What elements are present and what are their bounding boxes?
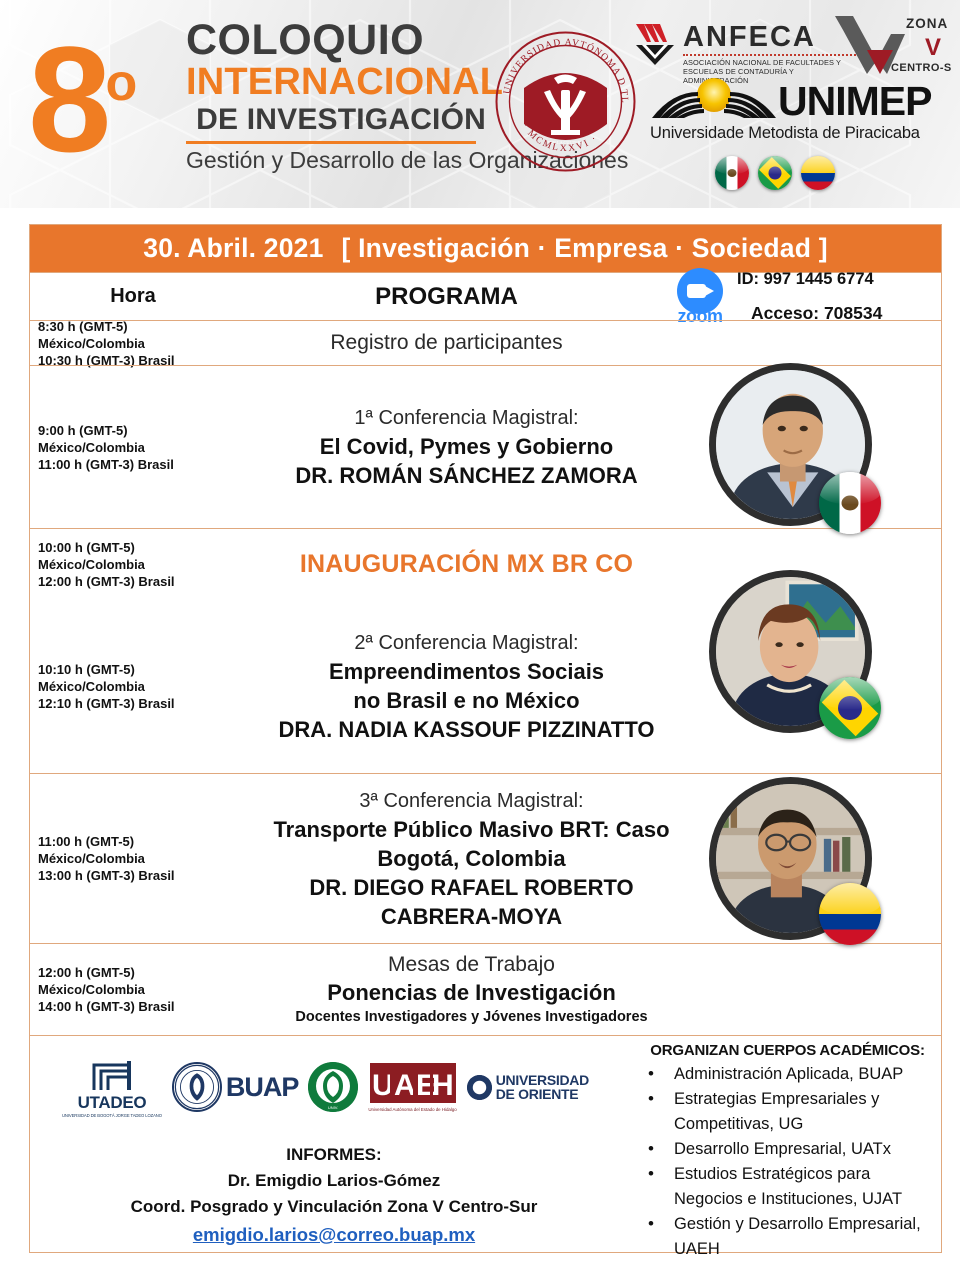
list-item: Administración Aplicada, BUAP	[640, 1062, 935, 1087]
banner-subtitle: Gestión y Desarrollo de las Organizacion…	[186, 147, 486, 173]
table-column-headers: Hora PROGRAMA zoom ID: 997 1445 6774 Acc…	[30, 272, 941, 320]
informes-block: INFORMES: Dr. Emigdio Larios-Gómez Coord…	[30, 1128, 638, 1249]
date-theme-bar: 30. Abril. 2021 [ Investigación · Empres…	[30, 225, 941, 272]
svg-text:H: H	[432, 1069, 454, 1102]
utadeo-subtext: UNIVERSIDAD DE BOGOTÁ JORGE TADEO LOZANO	[62, 1113, 162, 1118]
svg-text:UNIV.: UNIV.	[328, 1105, 338, 1110]
zoom-logo-icon: zoom	[669, 266, 731, 328]
brazil-flag-badge	[819, 677, 881, 739]
conferencia-2-speaker: DRA. NADIA KASSOUF PIZZINATTO	[278, 715, 654, 744]
footer-section: UTADEO UNIVERSIDAD DE BOGOTÁ JORGE TADEO…	[30, 1035, 941, 1267]
uo-line1: UNIVERSIDAD	[496, 1073, 589, 1087]
list-item: Estudios Estratégicos para Negocios e In…	[640, 1162, 935, 1212]
informes-email-link[interactable]: emigdio.larios@correo.buap.mx	[30, 1220, 638, 1249]
informes-contact-role: Coord. Posgrado y Vinculación Zona V Cen…	[30, 1194, 638, 1220]
edition-number: 8o	[28, 8, 137, 174]
mexico-flag-icon	[715, 156, 749, 190]
event-date: 30. Abril. 2021	[143, 233, 323, 264]
event-theme: [ Investigación · Empresa · Sociedad ]	[342, 233, 828, 264]
informes-contact-name: Dr. Emigdio Larios-Gómez	[30, 1168, 638, 1194]
unimep-mark-icon	[650, 78, 778, 124]
brazil-flag-icon	[758, 156, 792, 190]
banner-line-internacional: INTERNACIONAL	[186, 62, 486, 103]
conferencia-1-speaker: DR. ROMÁN SÁNCHEZ ZAMORA	[295, 461, 637, 490]
anfeca-logo: ANFECA ASOCIACIÓN NACIONAL DE FACULTADES…	[634, 22, 859, 85]
conferencia-3-title-line1: Transporte Público Masivo BRT: Caso	[273, 815, 669, 844]
row-time-conferencia-2: 10:10 h (GMT-5) México/Colombia 12:10 h …	[30, 600, 232, 773]
mesas-title: Ponencias de Investigación	[327, 978, 616, 1007]
zona-v-centro-sur-logo: ZONA V CENTRO-SUR	[833, 12, 951, 80]
row-time-mesas: 12:00 h (GMT-5) México/Colombia 14:00 h …	[30, 944, 232, 1035]
conferencia-3-speaker-line1: DR. DIEGO RAFAEL ROBERTO	[309, 873, 633, 902]
buap-wordmark: BUAP	[226, 1072, 299, 1103]
conferencia-1-title: El Covid, Pymes y Gobierno	[320, 432, 613, 461]
unimep-subtitle: Universidade Metodista de Piracicaba	[650, 124, 940, 143]
anfeca-mark-icon	[634, 22, 676, 66]
row-time-registro: 8:30 h (GMT-5) México/Colombia 10:30 h (…	[30, 321, 232, 365]
mesas-subtitle: Docentes Investigadores y Jóvenes Invest…	[295, 1007, 647, 1028]
colombia-flag-badge	[819, 883, 881, 945]
svg-text:ZONA: ZONA	[906, 16, 948, 31]
uo-line2: DE ORIENTE	[496, 1087, 589, 1101]
universidad-de-oriente-logo: UNIVERSIDAD DE ORIENTE	[467, 1073, 589, 1101]
header-banner: 8o COLOQUIO INTERNACIONAL DE INVESTIGACI…	[0, 0, 960, 208]
list-item: Desarrollo Empresarial, UATx	[640, 1137, 935, 1162]
conferencia-3-lead: 3ª Conferencia Magistral:	[359, 787, 583, 815]
mesas-label: Mesas de Trabajo	[388, 951, 555, 978]
country-flags-row	[715, 156, 835, 190]
conferencia-1-lead: 1ª Conferencia Magistral:	[354, 404, 578, 432]
uaeh-logo: UAEH Universidad Autónoma del Estado de …	[368, 1063, 456, 1112]
utadeo-wordmark: UTADEO	[78, 1093, 147, 1113]
col-header-programa: PROGRAMA	[375, 283, 518, 311]
zoom-access-cell: zoom ID: 997 1445 6774 Acceso: 708534	[661, 273, 941, 320]
organizan-title: ORGANIZAN CUERPOS ACADÉMICOS:	[640, 1042, 935, 1059]
uo-mark-icon	[467, 1075, 492, 1100]
utadeo-logo: UTADEO UNIVERSIDAD DE BOGOTÁ JORGE TADEO…	[62, 1057, 162, 1118]
banner-title-block: COLOQUIO INTERNACIONAL DE INVESTIGACIÓN …	[186, 18, 486, 173]
buap-seal-icon	[172, 1062, 222, 1112]
list-item: Estrategias Empresariales y Competitivas…	[640, 1087, 935, 1137]
row-time-inauguracion: 10:00 h (GMT-5) México/Colombia 12:00 h …	[30, 529, 232, 600]
unimep-wordmark: UNIMEP	[778, 80, 931, 122]
informes-title: INFORMES:	[30, 1142, 638, 1168]
banner-line-coloquio: COLOQUIO	[186, 18, 486, 62]
unimep-logo: UNIMEP Universidade Metodista de Piracic…	[650, 78, 940, 143]
uaeh-subtext: Universidad Autónoma del Estado de Hidal…	[368, 1107, 456, 1112]
conferencia-2-title-line2: no Brasil e no México	[353, 686, 579, 715]
svg-text:A: A	[394, 1069, 416, 1102]
conferencia-2-title-line1: Empreendimentos Sociais	[329, 657, 604, 686]
conferencia-3-title-line2: Bogotá, Colombia	[377, 844, 565, 873]
svg-text:CENTRO-SUR: CENTRO-SUR	[891, 62, 951, 74]
inauguracion-label: INAUGURACIÓN MX BR CO	[300, 550, 633, 579]
uag-logo: UNIV.	[308, 1062, 358, 1112]
list-item: Gestión y Desarrollo Empresarial, UAEH	[640, 1212, 935, 1262]
conferencia-3-speaker-line2: CABRERA-MOYA	[381, 902, 562, 931]
banner-line-investigacion: DE INVESTIGACIÓN	[186, 103, 486, 136]
partner-logos-strip: UTADEO UNIVERSIDAD DE BOGOTÁ JORGE TADEO…	[30, 1042, 638, 1128]
row-time-conferencia-3: 11:00 h (GMT-5) México/Colombia 13:00 h …	[30, 774, 232, 943]
uatx-seal-icon: POR LA CULTURA UNIVERSIDAD AVTÓNOMA D TL…	[494, 30, 637, 173]
conferencia-2-lead: 2ª Conferencia Magistral:	[354, 629, 578, 657]
mexico-flag-badge	[819, 472, 881, 534]
organizan-list: Administración Aplicada, BUAP Estrategia…	[640, 1062, 935, 1262]
row-time-conferencia-1: 9:00 h (GMT-5) México/Colombia 11:00 h (…	[30, 366, 232, 528]
row-program-registro: Registro de participantes	[330, 331, 562, 355]
utadeo-mark-icon	[89, 1057, 135, 1093]
organizan-block: ORGANIZAN CUERPOS ACADÉMICOS: Administra…	[638, 1036, 941, 1267]
program-table: 30. Abril. 2021 [ Investigación · Empres…	[29, 224, 942, 1253]
table-row-mesas-trabajo: 12:00 h (GMT-5) México/Colombia 14:00 h …	[30, 943, 941, 1035]
col-header-hora: Hora	[30, 273, 232, 320]
uaeh-mark-icon: UAEH	[370, 1063, 456, 1107]
colombia-flag-icon	[801, 156, 835, 190]
table-row-registro: 8:30 h (GMT-5) México/Colombia 10:30 h (…	[30, 320, 941, 365]
buap-logo: BUAP	[172, 1062, 299, 1112]
banner-divider	[186, 141, 476, 144]
zoom-meeting-id: ID: 997 1445 6774	[737, 270, 882, 289]
svg-text:V: V	[925, 34, 941, 61]
